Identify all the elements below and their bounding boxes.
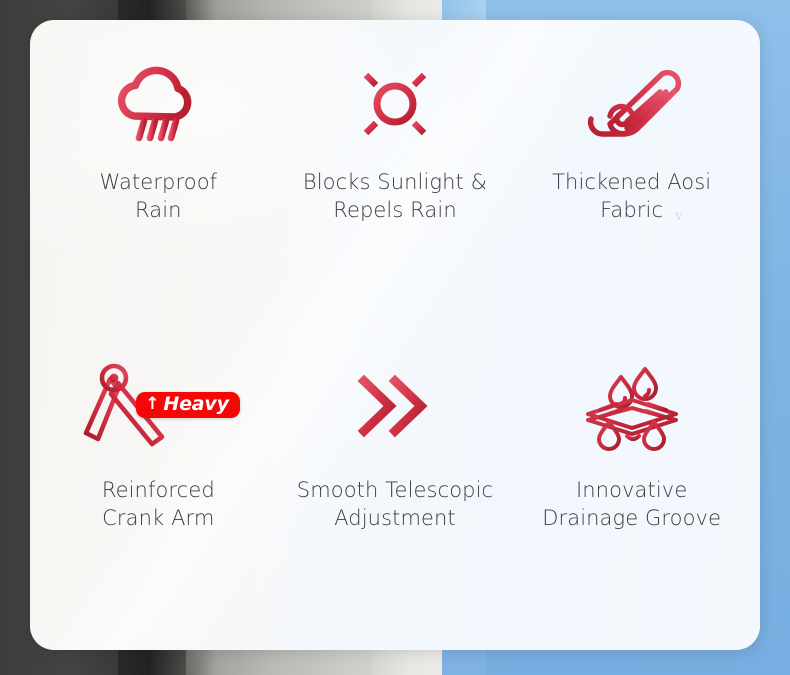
folded-fabric-icon [580, 56, 684, 152]
rain-cloud-icon [110, 56, 206, 152]
heavy-badge-label: Heavy [163, 395, 228, 414]
feature-item-smooth-telescopic[interactable]: Smooth Telescopic Adjustment [277, 340, 514, 624]
product-feature-graphic: v [0, 0, 790, 675]
feature-item-blocks-sunlight[interactable]: Blocks Sunlight & Repels Rain [277, 56, 514, 340]
feature-grid: Waterproof Rain [30, 20, 760, 650]
heavy-badge: ↑ Heavy [136, 392, 239, 418]
crank-arm-icon: ↑ Heavy [78, 358, 238, 454]
feature-label: Waterproof Rain [99, 168, 217, 224]
sun-icon [351, 56, 439, 152]
water-drainage-layers-icon [580, 358, 684, 454]
feature-label: Innovative Drainage Groove [542, 476, 721, 532]
feature-label: Reinforced Crank Arm [102, 476, 215, 532]
double-chevron-right-icon [356, 358, 434, 454]
feature-card: v [30, 20, 760, 650]
feature-label: Smooth Telescopic Adjustment [297, 476, 493, 532]
feature-label: Blocks Sunlight & Repels Rain [303, 168, 487, 224]
up-arrow-icon: ↑ [145, 396, 159, 413]
feature-item-waterproof-rain[interactable]: Waterproof Rain [40, 56, 277, 340]
feature-item-reinforced-crank-arm[interactable]: ↑ Heavy Reinforced Crank Arm [40, 340, 277, 624]
feature-item-thickened-fabric[interactable]: Thickened Aosi Fabric [513, 56, 750, 340]
feature-item-drainage-groove[interactable]: Innovative Drainage Groove [513, 340, 750, 624]
feature-label: Thickened Aosi Fabric [552, 168, 711, 224]
